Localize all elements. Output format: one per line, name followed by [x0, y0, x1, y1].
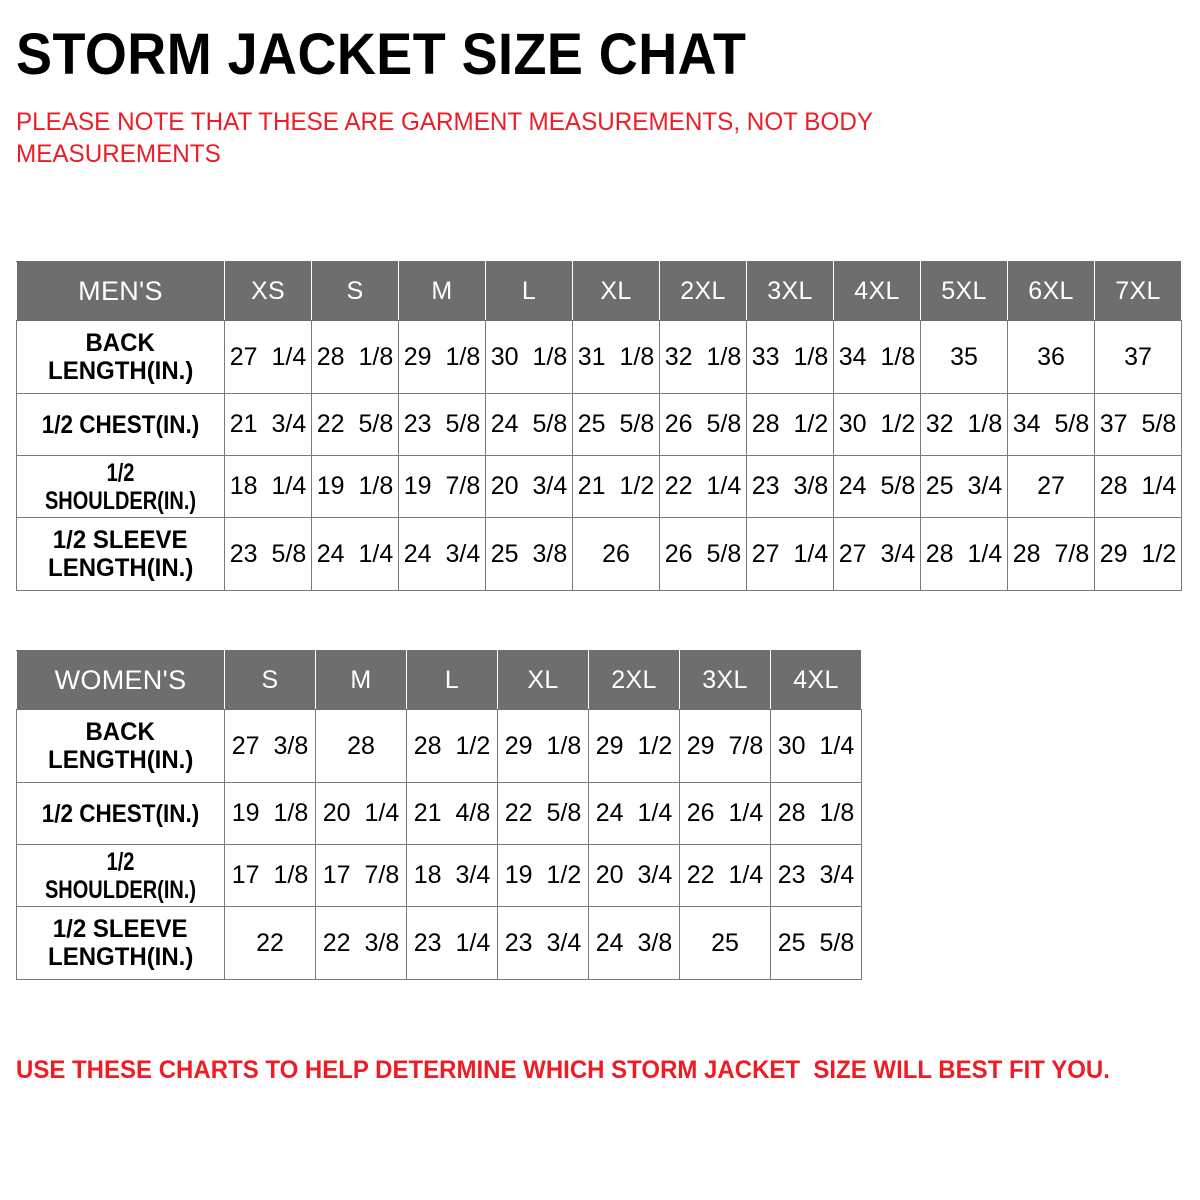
- size-column-header: 3XL: [747, 262, 834, 321]
- size-column-header: 4XL: [771, 651, 862, 710]
- measurement-cell: 26 1/4: [680, 783, 771, 845]
- size-chart-page: STORM JACKET SIZE CHAT PLEASE NOTE THAT …: [0, 0, 1200, 1200]
- measurement-cell: 19 1/8: [225, 783, 316, 845]
- measurement-cell: 37: [1095, 321, 1182, 394]
- measurement-cell: 35: [921, 321, 1008, 394]
- measurement-cell: 34 1/8: [834, 321, 921, 394]
- measurement-cell: 25 3/8: [486, 518, 573, 591]
- mens-table-body: BACKLENGTH(IN.)27 1/428 1/829 1/830 1/83…: [17, 321, 1182, 591]
- measurement-cell: 28 1/8: [771, 783, 862, 845]
- measurement-cell: 28 1/8: [312, 321, 399, 394]
- measurement-row-label: 1/2 SHOULDER(IN.): [17, 456, 225, 518]
- measurement-cell: 24 3/8: [589, 907, 680, 980]
- measurement-cell: 25: [680, 907, 771, 980]
- size-column-header: 3XL: [680, 651, 771, 710]
- measurement-cell: 29 1/2: [589, 710, 680, 783]
- measurement-cell: 18 1/4: [225, 456, 312, 518]
- measurement-cell: 26 5/8: [660, 518, 747, 591]
- size-column-header: 7XL: [1095, 262, 1182, 321]
- page-title: STORM JACKET SIZE CHAT: [16, 0, 1102, 84]
- measurement-cell: 29 1/8: [498, 710, 589, 783]
- measurement-cell: 24 1/4: [589, 783, 680, 845]
- size-column-header: XL: [573, 262, 660, 321]
- measurement-cell: 30 1/8: [486, 321, 573, 394]
- fit-guidance-note: USE THESE CHARTS TO HELP DETERMINE WHICH…: [16, 1056, 1110, 1085]
- size-column-header: L: [407, 651, 498, 710]
- measurement-cell: 27 3/8: [225, 710, 316, 783]
- measurement-cell: 36: [1008, 321, 1095, 394]
- measurement-cell: 27: [1008, 456, 1095, 518]
- measurement-cell: 37 5/8: [1095, 394, 1182, 456]
- measurement-cell: 29 1/8: [399, 321, 486, 394]
- measurement-cell: 26 5/8: [660, 394, 747, 456]
- measurement-cell: 18 3/4: [407, 845, 498, 907]
- measurement-cell: 22: [225, 907, 316, 980]
- measurement-cell: 20 3/4: [486, 456, 573, 518]
- measurement-cell: 22 1/4: [680, 845, 771, 907]
- men-table-corner-label: MEN'S: [17, 262, 225, 321]
- measurement-cell: 28 1/2: [747, 394, 834, 456]
- table-row: BACKLENGTH(IN.)27 1/428 1/829 1/830 1/83…: [17, 321, 1182, 394]
- size-column-header: 5XL: [921, 262, 1008, 321]
- measurement-cell: 23 3/4: [771, 845, 862, 907]
- measurement-cell: 22 1/4: [660, 456, 747, 518]
- measurement-cell: 23 5/8: [225, 518, 312, 591]
- size-column-header: S: [312, 262, 399, 321]
- size-column-header: L: [486, 262, 573, 321]
- measurement-cell: 21 1/2: [573, 456, 660, 518]
- table-row: 1/2 SHOULDER(IN.)17 1/817 7/818 3/419 1/…: [17, 845, 862, 907]
- size-column-header: M: [399, 262, 486, 321]
- measurement-cell: 23 5/8: [399, 394, 486, 456]
- mens-size-table-container: MEN'SXSSMLXL2XL3XL4XL5XL6XL7XL BACKLENGT…: [16, 261, 1182, 591]
- measurement-cell: 19 1/8: [312, 456, 399, 518]
- size-column-header: M: [316, 651, 407, 710]
- measurement-cell: 25 5/8: [573, 394, 660, 456]
- measurement-cell: 30 1/2: [834, 394, 921, 456]
- table-row: 1/2 CHEST(IN.)19 1/820 1/421 4/822 5/824…: [17, 783, 862, 845]
- measurement-cell: 22 3/8: [316, 907, 407, 980]
- measurement-cell: 29 1/2: [1095, 518, 1182, 591]
- mens-table-header: MEN'SXSSMLXL2XL3XL4XL5XL6XL7XL: [17, 262, 1182, 321]
- size-column-header: 6XL: [1008, 262, 1095, 321]
- measurement-cell: 28 1/2: [407, 710, 498, 783]
- measurement-row-label: 1/2 SLEEVELENGTH(IN.): [17, 518, 225, 591]
- measurement-cell: 17 1/8: [225, 845, 316, 907]
- measurement-cell: 30 1/4: [771, 710, 862, 783]
- measurement-cell: 23 3/8: [747, 456, 834, 518]
- size-column-header: 4XL: [834, 262, 921, 321]
- size-column-header: XL: [498, 651, 589, 710]
- measurement-cell: 29 7/8: [680, 710, 771, 783]
- measurement-cell: 32 1/8: [921, 394, 1008, 456]
- size-column-header: S: [225, 651, 316, 710]
- measurement-cell: 27 1/4: [747, 518, 834, 591]
- measurement-cell: 17 7/8: [316, 845, 407, 907]
- womens-size-table: WOMEN'SSMLXL2XL3XL4XL BACKLENGTH(IN.)27 …: [16, 650, 862, 980]
- measurement-cell: 32 1/8: [660, 321, 747, 394]
- measurement-cell: 20 1/4: [316, 783, 407, 845]
- measurement-cell: 28 7/8: [1008, 518, 1095, 591]
- measurement-cell: 22 5/8: [312, 394, 399, 456]
- measurement-cell: 25 3/4: [921, 456, 1008, 518]
- measurement-cell: 27 1/4: [225, 321, 312, 394]
- garment-measurement-note: PLEASE NOTE THAT THESE ARE GARMENT MEASU…: [16, 84, 947, 170]
- measurement-cell: 26: [573, 518, 660, 591]
- measurement-cell: 33 1/8: [747, 321, 834, 394]
- measurement-cell: 24 5/8: [834, 456, 921, 518]
- measurement-cell: 27 3/4: [834, 518, 921, 591]
- women-table-corner-label: WOMEN'S: [17, 651, 225, 710]
- measurement-row-label: 1/2 SHOULDER(IN.): [17, 845, 225, 907]
- measurement-row-label: 1/2 SLEEVELENGTH(IN.): [17, 907, 225, 980]
- measurement-cell: 31 1/8: [573, 321, 660, 394]
- measurement-cell: 28 1/4: [1095, 456, 1182, 518]
- measurement-cell: 23 1/4: [407, 907, 498, 980]
- measurement-cell: 20 3/4: [589, 845, 680, 907]
- table-header-row: MEN'SXSSMLXL2XL3XL4XL5XL6XL7XL: [17, 262, 1182, 321]
- measurement-cell: 24 3/4: [399, 518, 486, 591]
- measurement-cell: 23 3/4: [498, 907, 589, 980]
- measurement-row-label: BACKLENGTH(IN.): [17, 710, 225, 783]
- mens-size-table: MEN'SXSSMLXL2XL3XL4XL5XL6XL7XL BACKLENGT…: [16, 261, 1182, 591]
- measurement-row-label: 1/2 CHEST(IN.): [17, 783, 225, 845]
- table-row: 1/2 SLEEVELENGTH(IN.)23 5/824 1/424 3/42…: [17, 518, 1182, 591]
- measurement-cell: 24 1/4: [312, 518, 399, 591]
- womens-table-body: BACKLENGTH(IN.)27 3/82828 1/229 1/829 1/…: [17, 710, 862, 980]
- measurement-row-label: 1/2 CHEST(IN.): [17, 394, 225, 456]
- measurement-cell: 21 3/4: [225, 394, 312, 456]
- womens-size-table-container: WOMEN'SSMLXL2XL3XL4XL BACKLENGTH(IN.)27 …: [16, 650, 862, 980]
- measurement-cell: 21 4/8: [407, 783, 498, 845]
- measurement-row-label: BACKLENGTH(IN.): [17, 321, 225, 394]
- womens-table-header: WOMEN'SSMLXL2XL3XL4XL: [17, 651, 862, 710]
- measurement-cell: 19 7/8: [399, 456, 486, 518]
- table-header-row: WOMEN'SSMLXL2XL3XL4XL: [17, 651, 862, 710]
- size-column-header: 2XL: [589, 651, 680, 710]
- size-column-header: 2XL: [660, 262, 747, 321]
- table-row: 1/2 SHOULDER(IN.)18 1/419 1/819 7/820 3/…: [17, 456, 1182, 518]
- measurement-cell: 28 1/4: [921, 518, 1008, 591]
- measurement-cell: 22 5/8: [498, 783, 589, 845]
- measurement-cell: 19 1/2: [498, 845, 589, 907]
- table-row: BACKLENGTH(IN.)27 3/82828 1/229 1/829 1/…: [17, 710, 862, 783]
- measurement-cell: 28: [316, 710, 407, 783]
- measurement-cell: 24 5/8: [486, 394, 573, 456]
- measurement-cell: 25 5/8: [771, 907, 862, 980]
- size-column-header: XS: [225, 262, 312, 321]
- table-row: 1/2 SLEEVELENGTH(IN.)2222 3/823 1/423 3/…: [17, 907, 862, 980]
- measurement-cell: 34 5/8: [1008, 394, 1095, 456]
- table-row: 1/2 CHEST(IN.)21 3/422 5/823 5/824 5/825…: [17, 394, 1182, 456]
